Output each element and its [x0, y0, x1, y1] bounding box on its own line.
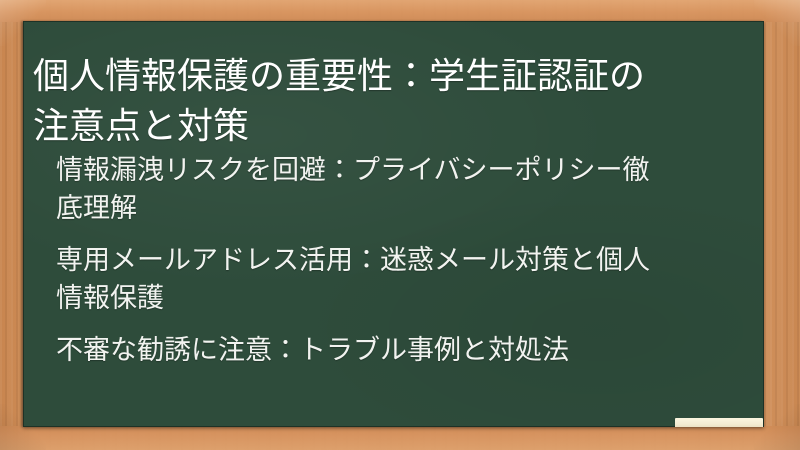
slide-title: 個人情報保護の重要性：学生証認証の 注意点と対策: [33, 52, 745, 152]
bullet-item-3: 不審な勧誘に注意：トラブル事例と対処法: [56, 332, 756, 370]
bullet-list: 情報漏洩リスクを回避：プライバシーポリシー徹 底理解 専用メールアドレス活用：迷…: [56, 152, 756, 370]
chalk-stick-icon: [675, 418, 763, 427]
bullet-item-2: 専用メールアドレス活用：迷惑メール対策と個人 情報保護: [56, 242, 756, 318]
wooden-frame-bottom-rail: [0, 426, 800, 450]
chalkboard-surface: 個人情報保護の重要性：学生証認証の 注意点と対策 情報漏洩リスクを回避：プライバ…: [23, 21, 764, 427]
wooden-frame-top-rail: [0, 0, 800, 22]
bullet-item-1: 情報漏洩リスクを回避：プライバシーポリシー徹 底理解: [56, 152, 756, 228]
board-content: 個人情報保護の重要性：学生証認証の 注意点と対策 情報漏洩リスクを回避：プライバ…: [23, 21, 764, 427]
blackboard-slide: 個人情報保護の重要性：学生証認証の 注意点と対策 情報漏洩リスクを回避：プライバ…: [0, 0, 800, 450]
